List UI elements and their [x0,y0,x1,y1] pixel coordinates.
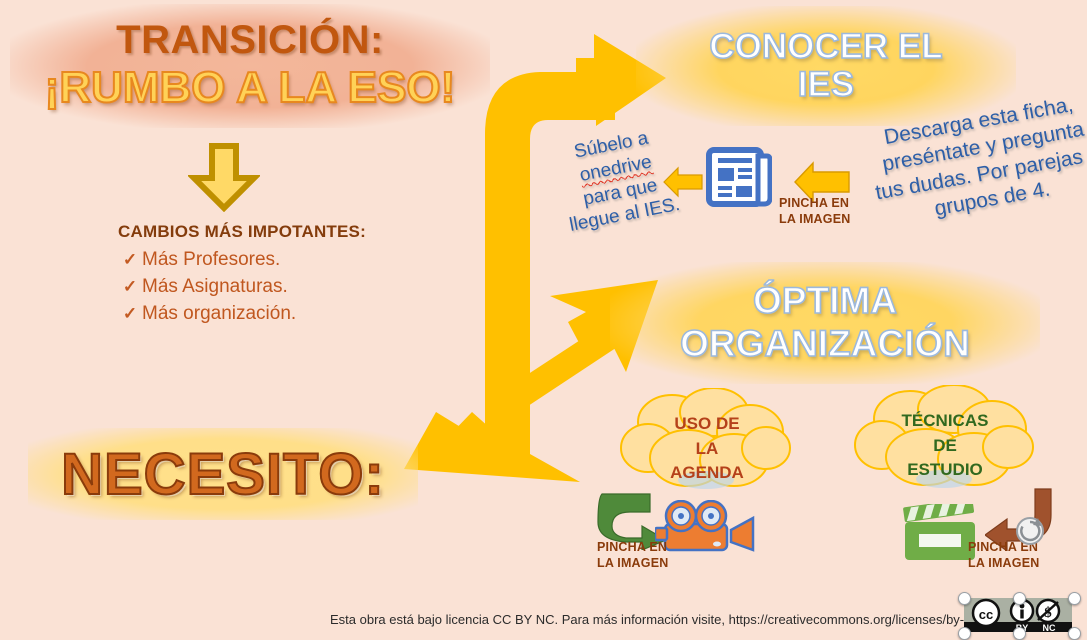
cloud-agenda-line-1: USO DE [674,414,739,433]
cloud-estudio-line-2: DE [933,436,957,455]
cc-nc-label: NC [1043,623,1056,633]
page-title: TRANSICIÓN: ¡RUMBO A LA ESO! [10,4,490,128]
optima-organizacion-label: ÓPTIMA ORGANIZACIÓN [680,280,970,365]
click-hint-agenda-line-2: LA IMAGEN [597,556,668,572]
list-item-label: Más organización. [142,303,296,325]
title-line-1: TRANSICIÓN: [116,20,384,60]
arrow-down-icon [188,142,260,217]
check-icon: ✓ [118,277,142,297]
list-item-label: Más Asignaturas. [142,276,288,298]
selection-handle[interactable] [958,592,971,605]
cloud-agenda-label: USO DE LA AGENDA [618,412,796,486]
click-hint-estudio-line-2: LA IMAGEN [968,556,1039,572]
changes-list: CAMBIOS MÁS IMPOTANTES: ✓ Más Profesores… [118,222,418,330]
click-hint-ies-line-2: LA IMAGEN [779,212,850,228]
check-icon: ✓ [118,304,142,324]
cloud-estudio-line-3: ESTUDIO [907,460,983,479]
cloud-agenda-line-2: LA [696,439,719,458]
license-footer: Esta obra está bajo licencia CC BY NC. P… [330,612,1003,627]
list-item: ✓ Más Profesores. [118,249,418,271]
cc-by-nc-badge[interactable]: cc $ BY NC [962,596,1074,639]
necesito-label: NECESITO: [61,441,385,508]
conocer-el-ies-banner: CONOCER EL IES [636,6,1016,126]
necesito-banner: NECESITO: [28,428,418,520]
cloud-agenda-line-3: AGENDA [670,463,744,482]
click-hint-agenda: PINCHA EN LA IMAGEN [597,540,668,571]
conocer-el-ies-label: CONOCER EL IES [709,28,942,105]
changes-heading: CAMBIOS MÁS IMPOTANTES: [118,222,418,242]
title-line-2: ¡RUMBO A LA ESO! [45,64,456,112]
check-icon: ✓ [118,250,142,270]
optima-line-2: ORGANIZACIÓN [680,323,970,364]
conocer-line-1: CONOCER EL [709,27,942,66]
optima-line-1: ÓPTIMA [753,280,897,321]
click-hint-agenda-line-1: PINCHA EN [597,540,668,556]
cc-glyph: cc [979,607,993,622]
cloud-estudio-label: TÉCNICAS DE ESTUDIO [852,409,1038,483]
infographic-canvas: TRANSICIÓN: ¡RUMBO A LA ESO! CAMBIOS MÁS… [0,0,1087,639]
movie-camera-icon[interactable] [655,500,767,559]
rotate-handle-icon[interactable] [1013,514,1047,553]
arrow-left-icon [662,165,704,204]
click-hint-ies: PINCHA EN LA IMAGEN [779,196,850,227]
selection-handle[interactable] [1068,627,1081,640]
selection-handle[interactable] [1013,592,1026,605]
optima-organizacion-banner: ÓPTIMA ORGANIZACIÓN [610,262,1040,384]
selection-handle[interactable] [1068,592,1081,605]
newspaper-icon[interactable] [706,146,772,213]
selection-handle[interactable] [1013,627,1026,640]
selection-handle[interactable] [958,627,971,640]
list-item: ✓ Más organización. [118,303,418,325]
list-item-label: Más Profesores. [142,249,280,271]
cloud-estudio-line-1: TÉCNICAS [902,411,989,430]
click-hint-ies-line-1: PINCHA EN [779,196,850,212]
conocer-line-2: IES [798,65,854,104]
list-item: ✓ Más Asignaturas. [118,276,418,298]
